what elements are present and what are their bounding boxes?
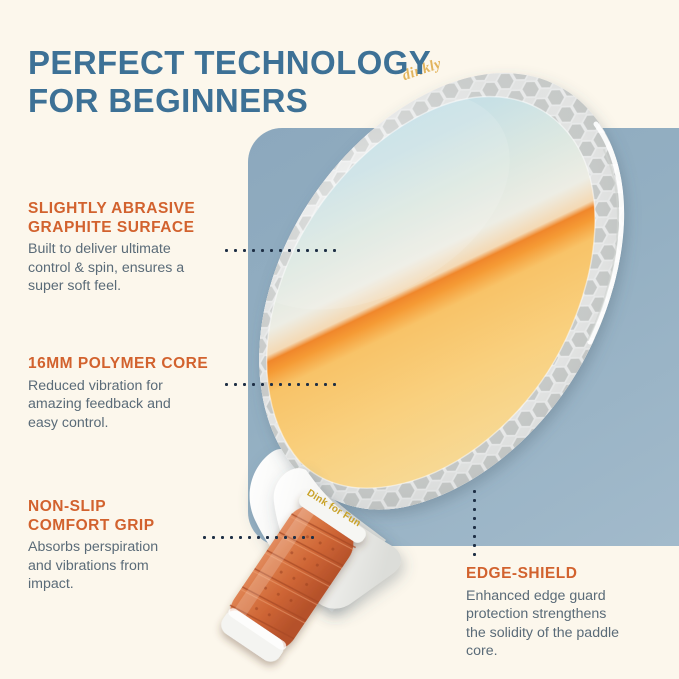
leader-line-polymer-core bbox=[222, 383, 342, 386]
callout-comfort-grip: NON-SLIP COMFORT GRIP Absorbs perspirati… bbox=[28, 498, 233, 594]
callout-heading: EDGE-SHIELD bbox=[466, 565, 666, 584]
callout-polymer-core: 16MM POLYMER CORE Reduced vibration for … bbox=[28, 355, 233, 432]
leader-line-edge-shield bbox=[473, 487, 476, 557]
callout-graphite-surface: SLIGHTLY ABRASIVE GRAPHITE SURFACE Built… bbox=[28, 200, 233, 296]
callout-body: Absorbs perspiration and vibrations from… bbox=[28, 538, 233, 594]
callout-body: Enhanced edge guard protection strengthe… bbox=[466, 587, 666, 661]
callout-heading: 16MM POLYMER CORE bbox=[28, 355, 233, 374]
callout-heading: SLIGHTLY ABRASIVE GRAPHITE SURFACE bbox=[28, 200, 233, 237]
callout-edge-shield: EDGE-SHIELD Enhanced edge guard protecti… bbox=[466, 565, 666, 661]
page-title: PERFECT TECHNOLOGY FOR BEGINNERS bbox=[28, 44, 458, 120]
callout-body: Reduced vibration for amazing feedback a… bbox=[28, 377, 233, 433]
callout-body: Built to deliver ultimate control & spin… bbox=[28, 240, 233, 296]
infographic-canvas: dinkly Dink for Fun PERFECT TECHNOLOGY F… bbox=[0, 0, 679, 679]
leader-line-graphite-surface bbox=[222, 249, 342, 252]
callout-heading: NON-SLIP COMFORT GRIP bbox=[28, 498, 233, 535]
